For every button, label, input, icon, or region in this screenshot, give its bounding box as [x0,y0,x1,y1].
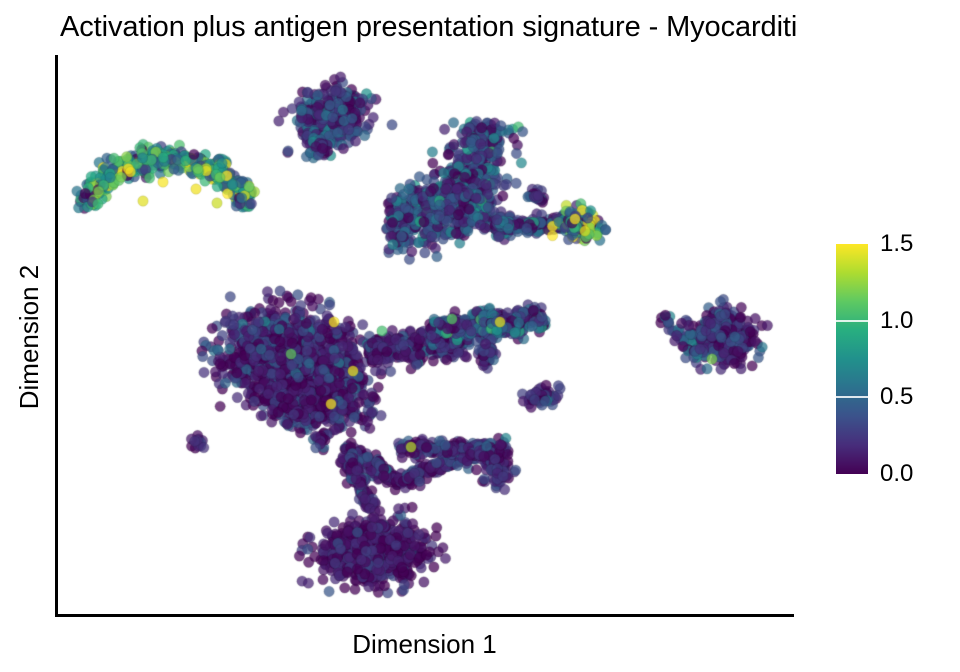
x-axis-label: Dimension 1 [55,626,794,662]
scatter-plot-figure: Activation plus antigen presentation sig… [0,0,960,672]
colorbar-tick-label: 1.0 [880,309,913,333]
colorbar-tick-label: 0.0 [880,462,913,486]
colorbar-tick-mark [836,320,868,322]
colorbar-tick-mark [836,396,868,398]
y-axis-line [55,55,58,617]
scatter-plot-canvas [56,55,794,615]
page-title: Activation plus antigen presentation sig… [60,6,960,48]
colorbar-tick-label: 1.5 [880,232,913,256]
y-axis-label: Dimension 2 [14,56,44,618]
colorbar-tick-label: 0.5 [880,385,913,409]
colorbar-gradient [836,244,868,474]
x-axis-line [55,614,794,617]
